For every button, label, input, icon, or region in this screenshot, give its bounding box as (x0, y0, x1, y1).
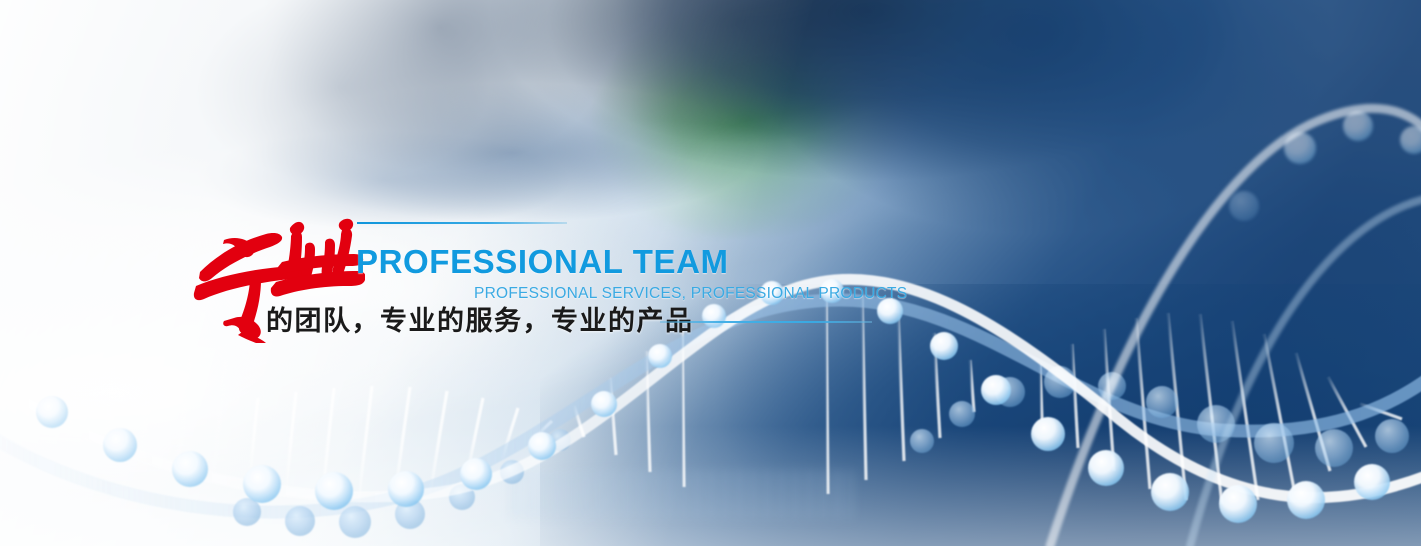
professional-team-banner: PROFESSIONAL TEAM PROFESSIONAL SERVICES,… (0, 0, 1421, 546)
banner-subtitle-english: PROFESSIONAL SERVICES, PROFESSIONAL PROD… (474, 286, 907, 302)
headline-block: PROFESSIONAL TEAM PROFESSIONAL SERVICES,… (0, 0, 1421, 546)
bottom-divider-line (660, 321, 872, 323)
banner-title-chinese: 的团队，专业的服务，专业的产品 (266, 306, 694, 337)
banner-title-english: PROFESSIONAL TEAM (356, 245, 729, 278)
top-divider-line (357, 222, 567, 224)
